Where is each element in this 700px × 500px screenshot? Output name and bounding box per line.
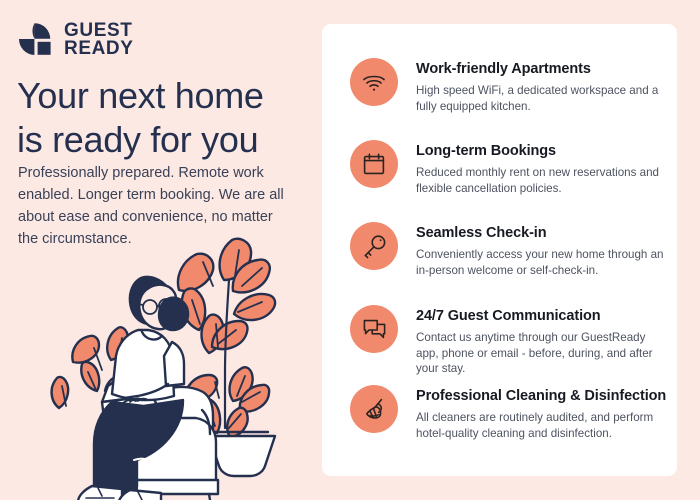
feature-text: Long-term Bookings Reduced monthly rent …	[416, 140, 664, 196]
feature-text: Seamless Check-in Conveniently access yo…	[416, 222, 664, 278]
promo-card: GUEST READY Your next home is ready for …	[0, 0, 700, 500]
feature-description: All cleaners are routinely audited, and …	[416, 410, 668, 441]
list-item[interactable]: Seamless Check-in Conveniently access yo…	[350, 222, 670, 278]
feature-text: Professional Cleaning & Disinfection All…	[416, 385, 668, 441]
feature-title: Long-term Bookings	[416, 142, 664, 161]
list-item[interactable]: Professional Cleaning & Disinfection All…	[350, 385, 670, 441]
left-column: GUEST READY Your next home is ready for …	[0, 0, 322, 500]
feature-icon-badge	[350, 305, 398, 353]
list-item[interactable]: Work-friendly Apartments High speed WiFi…	[350, 58, 670, 114]
page-title: Your next home is ready for you	[17, 74, 307, 162]
brand-logo[interactable]: GUEST READY	[18, 22, 134, 58]
feature-text: 24/7 Guest Communication Contact us anyt…	[416, 305, 668, 377]
feature-title: Professional Cleaning & Disinfection	[416, 387, 668, 406]
headline-line-2: is ready for you	[17, 118, 307, 162]
feature-icon-badge	[350, 222, 398, 270]
feature-icon-badge	[350, 385, 398, 433]
feature-description: Reduced monthly rent on new reservations…	[416, 165, 664, 196]
chat-bubbles-icon	[362, 317, 387, 342]
brand-wordmark: GUEST READY	[64, 22, 134, 58]
calendar-icon	[362, 152, 386, 176]
feature-title: 24/7 Guest Communication	[416, 307, 668, 326]
brand-name-line2: READY	[64, 40, 134, 58]
features-panel: Work-friendly Apartments High speed WiFi…	[322, 24, 677, 476]
key-icon	[362, 234, 387, 259]
list-item[interactable]: Long-term Bookings Reduced monthly rent …	[350, 140, 670, 196]
feature-text: Work-friendly Apartments High speed WiFi…	[416, 58, 664, 114]
feature-icon-badge	[350, 58, 398, 106]
broom-icon	[362, 397, 387, 422]
list-item[interactable]: 24/7 Guest Communication Contact us anyt…	[350, 305, 670, 377]
headline-line-1: Your next home	[17, 74, 307, 118]
wifi-icon	[361, 69, 387, 95]
feature-description: High speed WiFi, a dedicated workspace a…	[416, 83, 664, 114]
feature-icon-badge	[350, 140, 398, 188]
woman-on-armchair-with-laptop-and-plants-illustration	[26, 218, 322, 500]
feature-title: Seamless Check-in	[416, 224, 664, 243]
guestready-logo-icon	[18, 22, 54, 58]
feature-title: Work-friendly Apartments	[416, 60, 664, 79]
feature-description: Contact us anytime through our GuestRead…	[416, 330, 668, 377]
feature-description: Conveniently access your new home throug…	[416, 247, 664, 278]
